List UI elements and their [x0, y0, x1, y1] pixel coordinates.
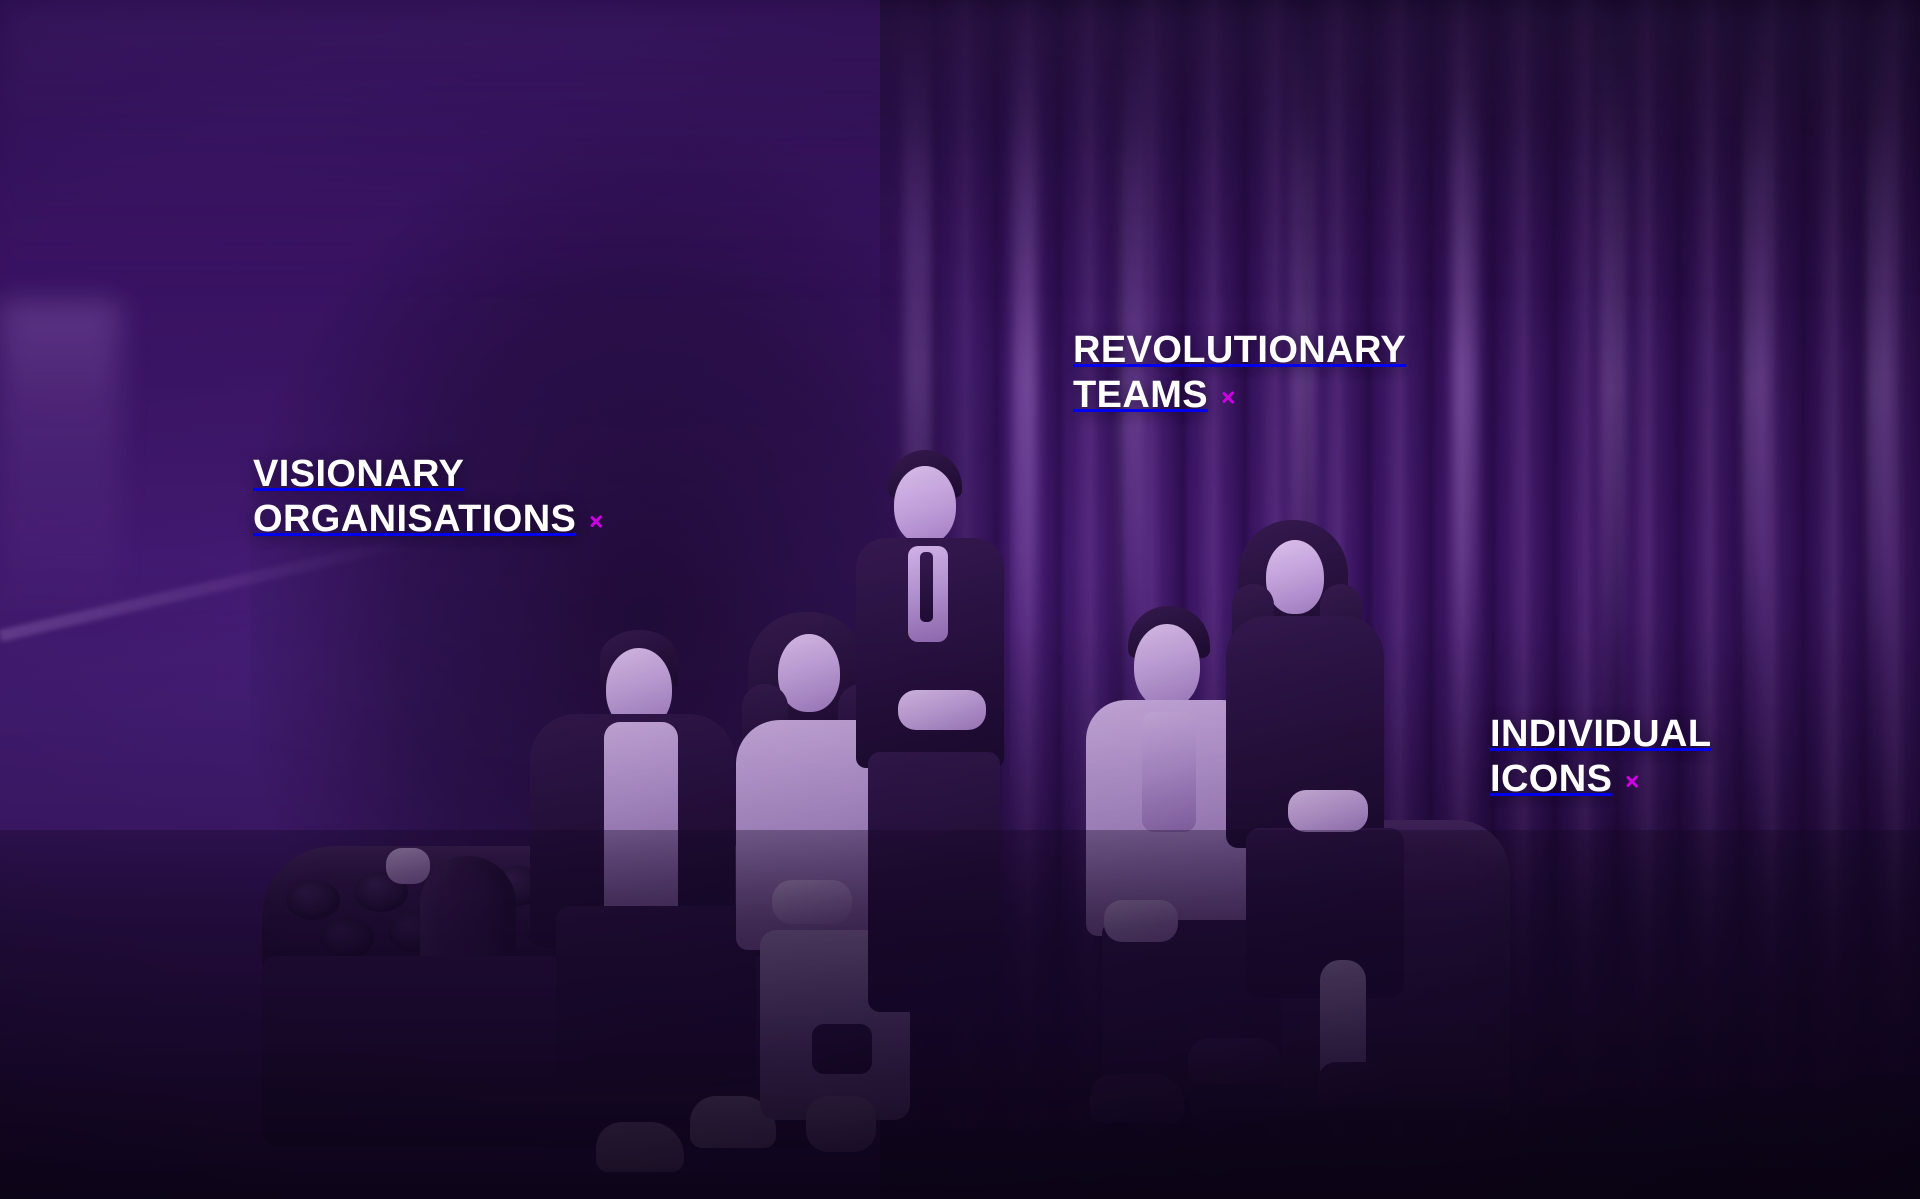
photo-vignette: [0, 0, 1920, 1199]
nav-link-line-2: TEAMS: [1073, 373, 1208, 418]
nav-link-line-2-row: ICONS: [1490, 757, 1711, 802]
nav-link-line-2-row: ORGANISATIONS: [253, 497, 605, 542]
hero-banner: VISIONARY ORGANISATIONS REVOLUTIONARY TE…: [0, 0, 1920, 1199]
nav-link-line-1: INDIVIDUAL: [1490, 712, 1711, 757]
chevron-right-icon[interactable]: [1626, 768, 1641, 792]
nav-link-line-1: VISIONARY: [253, 452, 605, 497]
nav-link-line-2: ORGANISATIONS: [253, 497, 576, 542]
chevron-right-icon[interactable]: [1222, 384, 1237, 408]
chevron-right-icon[interactable]: [590, 508, 605, 532]
nav-link-line-2-row: TEAMS: [1073, 373, 1406, 418]
nav-link-line-2: ICONS: [1490, 757, 1612, 802]
nav-link-revolutionary-teams[interactable]: REVOLUTIONARY TEAMS: [1073, 328, 1406, 418]
nav-link-line-1: REVOLUTIONARY: [1073, 328, 1406, 373]
nav-link-visionary-organisations[interactable]: VISIONARY ORGANISATIONS: [253, 452, 605, 542]
nav-link-individual-icons[interactable]: INDIVIDUAL ICONS: [1490, 712, 1711, 802]
